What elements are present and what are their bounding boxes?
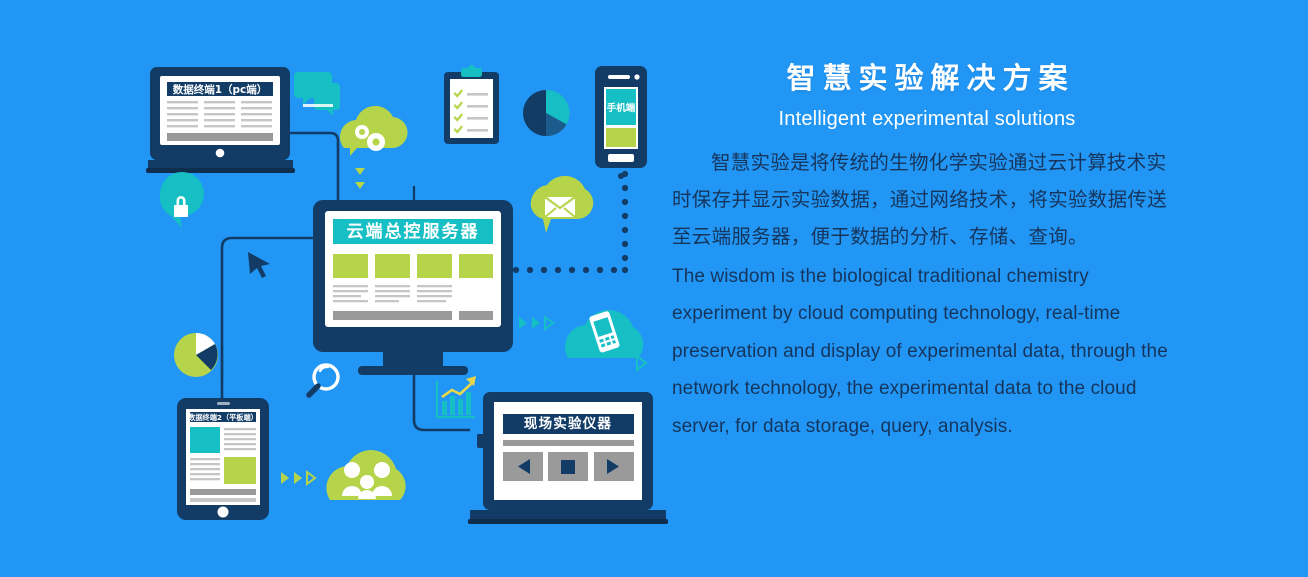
page-title: 智慧实验解决方案 <box>672 62 1182 97</box>
banner-canvas: 数据终端1（pc端） <box>0 0 1308 577</box>
magnifier-icon <box>309 365 338 395</box>
dotted-line-horizontal <box>513 267 628 273</box>
cloud-gears-icon <box>340 106 408 189</box>
device-instrument-laptop: 现场实验仪器 <box>468 392 668 524</box>
arrow-chevron-teal-single <box>637 356 646 370</box>
chat-bubbles-icon <box>294 72 340 116</box>
connector-monitor-to-tablet <box>222 238 313 400</box>
cloud-phone-icon <box>565 310 643 358</box>
clipboard-checklist-icon <box>444 65 499 144</box>
device-phone: 手机端 <box>595 66 647 168</box>
device-tablet: 数据终端2（平板端） <box>177 398 269 520</box>
stop-icon <box>561 460 575 474</box>
envelope-bubble-icon <box>531 176 594 233</box>
paragraph-english: The wisdom is the biological traditional… <box>672 258 1182 446</box>
arrow-down-chevrons-icon <box>355 168 365 189</box>
pie-chart-green-icon <box>174 333 218 377</box>
paragraph-chinese: 智慧实验是将传统的生物化学实验通过云计算技术实时保存并显示实验数据，通过网络技术… <box>672 145 1182 256</box>
illustration-group: 数据终端1（pc端） <box>0 0 680 577</box>
cloud-people-icon <box>326 450 405 500</box>
device-server-monitor: 云端总控服务器 <box>313 200 513 375</box>
pie-chart-dark-icon <box>523 90 570 136</box>
lock-bubble-icon <box>160 172 204 228</box>
instrument-controls <box>503 452 634 481</box>
text-panel: 智慧实验解决方案 Intelligent experimental soluti… <box>672 62 1182 445</box>
laptop-screen-label: 数据终端1（pc端） <box>172 83 268 96</box>
dotted-line-vertical <box>622 157 628 261</box>
laptop-footer-bar <box>167 133 273 141</box>
phone-screen-label: 手机端 <box>607 102 636 114</box>
page-subtitle: Intelligent experimental solutions <box>672 108 1182 131</box>
arrow-chevrons-icon <box>519 317 553 329</box>
cursor-icon <box>248 252 270 278</box>
instrument-screen-label: 现场实验仪器 <box>524 415 612 432</box>
tablet-screen-label: 数据终端2（平板端） <box>188 413 258 422</box>
phone-dot <box>618 173 624 179</box>
monitor-screen-label: 云端总控服务器 <box>347 221 480 242</box>
device-laptop-pc: 数据终端1（pc端） <box>146 67 295 173</box>
arrow-chevrons-green-icon <box>281 472 315 484</box>
growth-chart-icon <box>437 376 476 417</box>
